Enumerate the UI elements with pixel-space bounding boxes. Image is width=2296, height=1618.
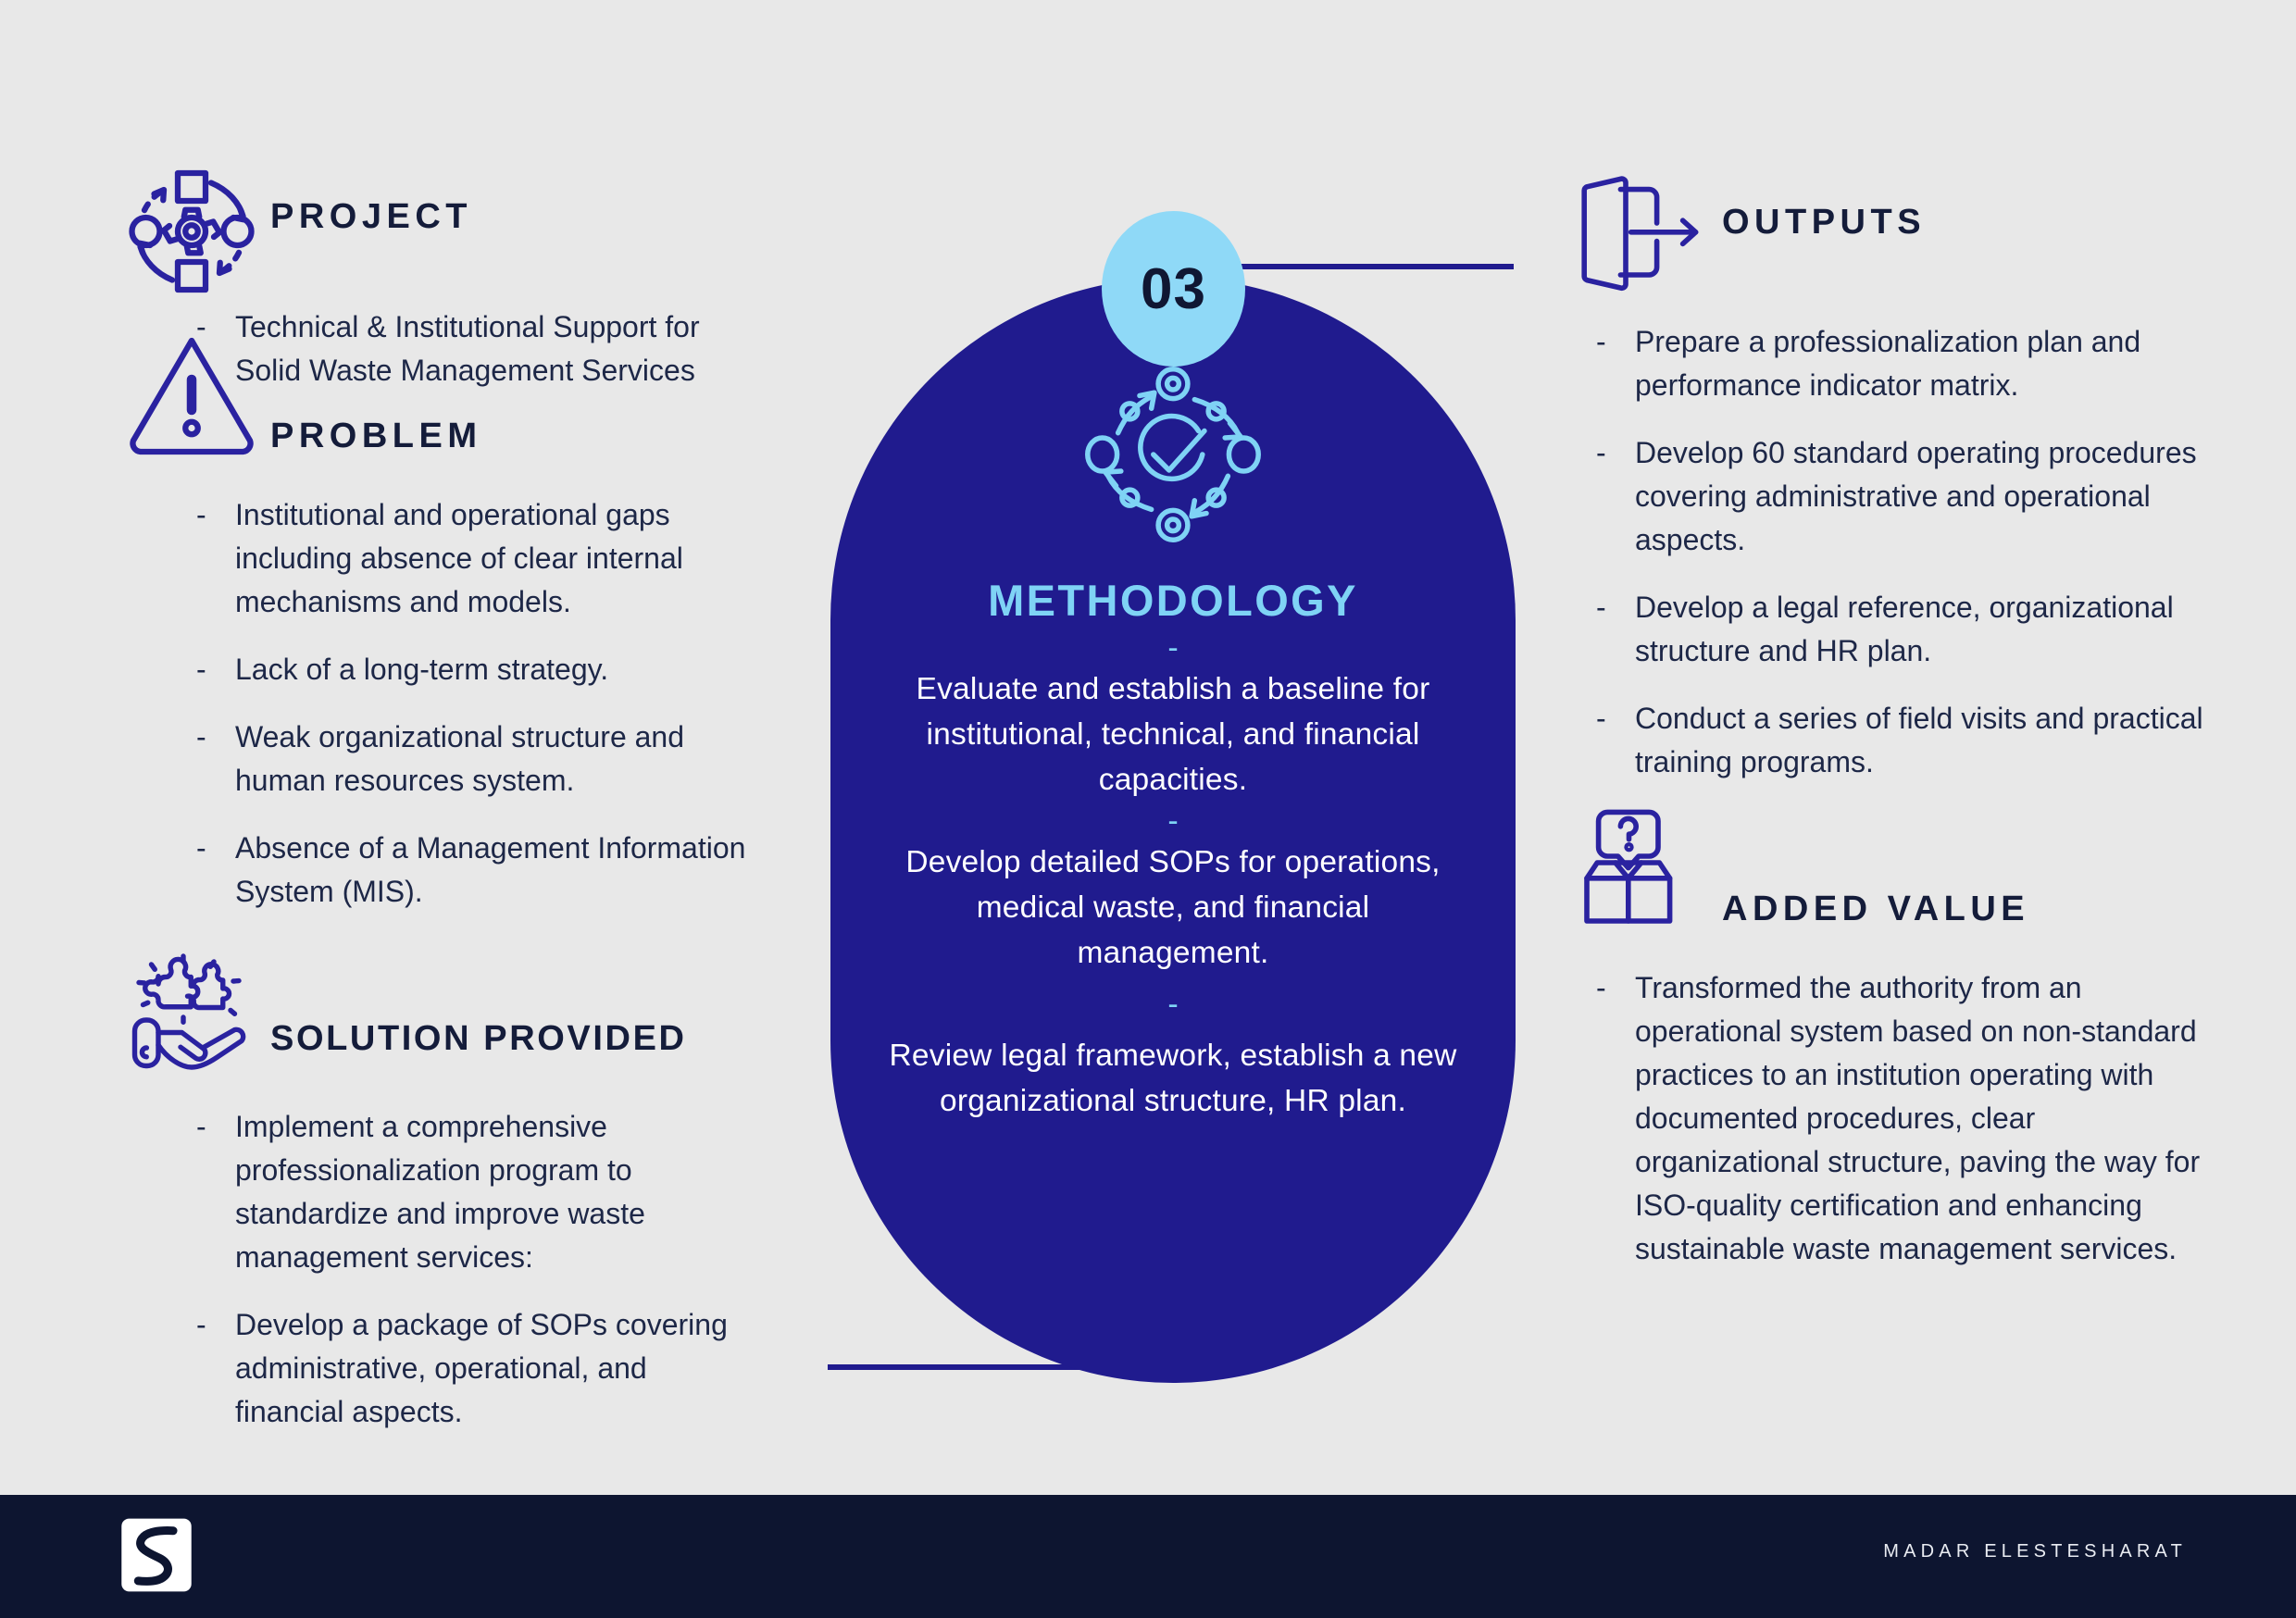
- methodology-separator: -: [884, 629, 1462, 666]
- bullet-text: Develop a legal reference, organizationa…: [1635, 586, 2222, 673]
- list-item: - Develop a package of SOPs covering adm…: [174, 1303, 748, 1434]
- section-added-value: ADDED VALUE: [1574, 804, 2222, 939]
- warning-triangle-icon: [122, 324, 270, 467]
- left-column: PROJECT - Technical & Institutional Supp…: [122, 162, 807, 1458]
- list-item: - Institutional and operational gaps inc…: [174, 493, 748, 624]
- bullet-text: Transformed the authority from an operat…: [1635, 966, 2222, 1271]
- section-project: PROJECT: [122, 162, 807, 305]
- list-item: - Transformed the authority from an oper…: [1574, 966, 2222, 1271]
- section-title-solution-provided: SOLUTION PROVIDED: [270, 934, 687, 1059]
- bullet-text: Prepare a professionalization plan and p…: [1635, 320, 2222, 407]
- methodology-paragraph-3: Review legal framework, establish a new …: [884, 1033, 1462, 1124]
- step-number: 03: [1141, 256, 1206, 322]
- bullet-marker: -: [1574, 586, 1635, 673]
- bullet-marker: -: [1574, 431, 1635, 562]
- bullet-text: Implement a comprehensive professionaliz…: [235, 1105, 748, 1279]
- bullet-marker: -: [174, 1303, 235, 1434]
- methodology-paragraph-2: Develop detailed SOPs for operations, me…: [884, 840, 1462, 976]
- section-outputs: OUTPUTS: [1574, 171, 2222, 305]
- bullet-text: Develop 60 standard operating procedures…: [1635, 431, 2222, 562]
- bullet-marker: -: [174, 1105, 235, 1279]
- bullet-list-problem: - Institutional and operational gaps inc…: [174, 493, 748, 914]
- madar-logo: [119, 1517, 194, 1593]
- step-number-badge: 03: [1102, 211, 1245, 367]
- bullet-marker: -: [1574, 966, 1635, 1271]
- list-item: - Prepare a professionalization plan and…: [1574, 320, 2222, 407]
- section-title-added-value: ADDED VALUE: [1722, 804, 2029, 929]
- methodology-separator: -: [884, 976, 1462, 1033]
- list-item: - Conduct a series of field visits and p…: [1574, 697, 2222, 784]
- methodology-panel: METHODOLOGY - Evaluate and establish a b…: [830, 278, 1516, 1383]
- section-title-project: PROJECT: [270, 162, 472, 237]
- methodology-title: METHODOLOGY: [884, 575, 1462, 626]
- bullet-marker: -: [174, 493, 235, 624]
- bullet-marker: -: [1574, 320, 1635, 407]
- bullet-text: Develop a package of SOPs covering admin…: [235, 1303, 748, 1434]
- list-item: - Absence of a Management Information Sy…: [174, 827, 748, 914]
- methodology-separator: -: [884, 803, 1462, 840]
- bullet-list-added-value: - Transformed the authority from an oper…: [1574, 966, 2222, 1271]
- bullet-list-solution-provided: - Implement a comprehensive professional…: [174, 1105, 748, 1434]
- list-item: - Implement a comprehensive professional…: [174, 1105, 748, 1279]
- section-problem: PROBLEM: [122, 324, 807, 467]
- bullet-text: Conduct a series of field visits and pra…: [1635, 697, 2222, 784]
- footer-brand: MADAR ELESTESHARAT: [1883, 1541, 2187, 1562]
- section-title-outputs: OUTPUTS: [1722, 171, 1926, 243]
- gear-cycle-icon: [122, 162, 270, 305]
- right-column: OUTPUTS - Prepare a professionalization …: [1574, 171, 2222, 1295]
- bullet-text: Lack of a long-term strategy.: [235, 648, 608, 691]
- bullet-text: Absence of a Management Information Syst…: [235, 827, 748, 914]
- box-question-icon: [1574, 804, 1722, 939]
- bullet-marker: -: [174, 827, 235, 914]
- bullet-text: Institutional and operational gaps inclu…: [235, 493, 748, 624]
- list-item: - Lack of a long-term strategy.: [174, 648, 748, 691]
- list-item: - Develop a legal reference, organizatio…: [1574, 586, 2222, 673]
- list-item: - Weak organizational structure and huma…: [174, 716, 748, 803]
- methodology-content: METHODOLOGY - Evaluate and establish a b…: [830, 278, 1516, 1124]
- bullet-marker: -: [174, 648, 235, 691]
- infographic-canvas: PROJECT - Technical & Institutional Supp…: [0, 0, 2296, 1618]
- bullet-marker: -: [174, 716, 235, 803]
- bullet-list-outputs: - Prepare a professionalization plan and…: [1574, 320, 2222, 784]
- hand-puzzle-icon: [122, 934, 270, 1077]
- bullet-marker: -: [1574, 697, 1635, 784]
- bullet-text: Weak organizational structure and human …: [235, 716, 748, 803]
- section-solution-provided: SOLUTION PROVIDED: [122, 934, 807, 1077]
- exit-door-arrow-icon: [1574, 171, 1722, 305]
- section-title-problem: PROBLEM: [270, 324, 482, 456]
- connector-line-right: [1236, 264, 1514, 269]
- cycle-check-icon: [1075, 356, 1271, 553]
- list-item: - Develop 60 standard operating procedur…: [1574, 431, 2222, 562]
- footer-bar: MADAR ELESTESHARAT: [0, 1495, 2296, 1618]
- methodology-paragraph-1: Evaluate and establish a baseline for in…: [884, 666, 1462, 803]
